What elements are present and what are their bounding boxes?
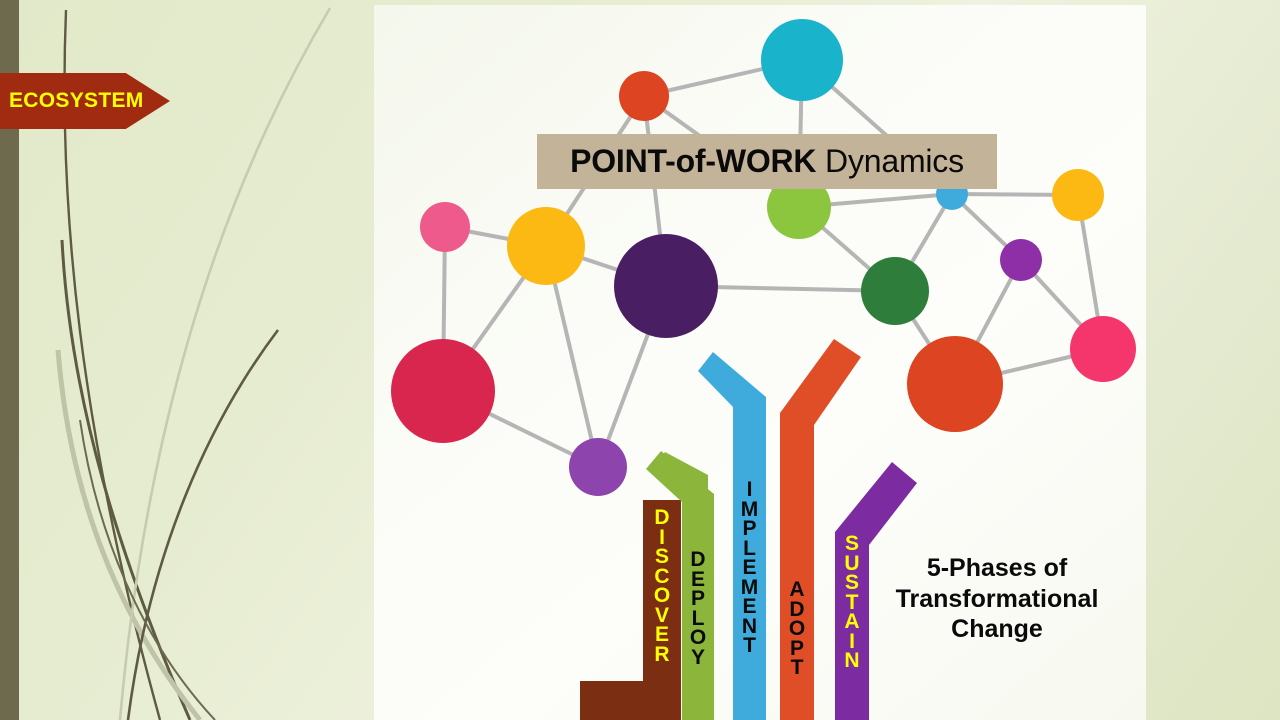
ecosystem-tag[interactable]: ECOSYSTEM — [0, 73, 170, 129]
phase-arrow-discover — [580, 500, 681, 720]
ecosystem-tag-label: ECOSYSTEM — [0, 89, 144, 113]
content-panel: D I S C O V E R D E P L O Y I M P L E M … — [374, 5, 1146, 720]
caption-line-1: 5-Phases of — [882, 553, 1112, 584]
title-bold-part: POINT-of-WORK — [570, 143, 816, 179]
slide-canvas: D I S C O V E R D E P L O Y I M P L E M … — [0, 0, 1280, 720]
caption-line-2: Transformational — [882, 584, 1112, 615]
title-banner: POINT-of-WORK Dynamics — [537, 134, 997, 189]
caption-line-3: Change — [882, 614, 1112, 645]
page-title: POINT-of-WORK Dynamics — [570, 143, 964, 180]
phases-caption: 5-Phases of Transformational Change — [882, 553, 1112, 645]
title-regular-part: Dynamics — [816, 143, 964, 179]
